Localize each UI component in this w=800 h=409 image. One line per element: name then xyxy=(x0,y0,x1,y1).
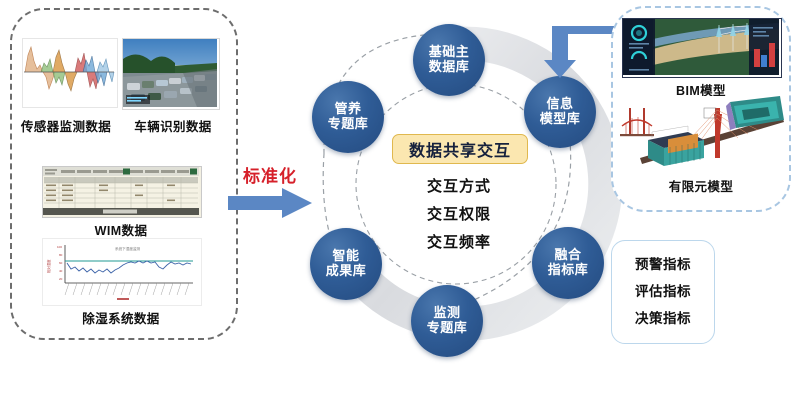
svg-text:40: 40 xyxy=(59,269,63,273)
node-line: 融合 xyxy=(554,248,581,263)
svg-text:相对湿度: 相对湿度 xyxy=(46,259,51,273)
ring-node-fusion-index-db[interactable]: 融合 指标库 xyxy=(532,227,604,299)
center-item-interaction-permission: 交互权限 xyxy=(392,203,526,224)
node-line: 成果库 xyxy=(326,264,367,279)
node-line: 信息 xyxy=(546,97,573,112)
center-item-list: 交互方式 交互权限 交互频率 xyxy=(392,168,526,259)
fem-diagram-thumbnail xyxy=(618,96,786,172)
indicator-item-warning: 预警指标 xyxy=(611,253,715,273)
node-line: 管养 xyxy=(334,102,361,117)
ring-node-smart-result-db[interactable]: 智能 成果库 xyxy=(310,228,382,300)
node-line: 基础主 xyxy=(429,45,470,60)
node-line: 智能 xyxy=(332,249,359,264)
diagram-canvas: 传感器监测数据 车辆识别数据 xyxy=(0,0,800,409)
caption-dehumidifier-data: 除湿系统数据 xyxy=(42,308,200,327)
indicator-item-list: 预警指标 评估指标 决策指标 xyxy=(611,246,715,334)
traffic-photo-thumbnail xyxy=(122,38,220,110)
bim-screenshot-thumbnail xyxy=(622,18,782,78)
center-badge: 数据共享交互 xyxy=(392,134,528,164)
waveform-chart-thumbnail xyxy=(22,38,118,108)
caption-fem-model: 有限元模型 xyxy=(611,176,791,195)
ring-node-info-model-db[interactable]: 信息 模型库 xyxy=(524,76,596,148)
svg-text:60: 60 xyxy=(59,261,63,265)
caption-sensor-data: 传感器监测数据 xyxy=(8,116,124,135)
svg-text:100: 100 xyxy=(57,245,62,249)
node-line: 指标库 xyxy=(548,263,589,278)
indicator-item-assessment: 评估指标 xyxy=(611,280,715,300)
dehumidifier-chart-thumbnail: 1008060 4020 相对湿度 系统下湿度监测 xyxy=(42,238,202,306)
node-line: 监测 xyxy=(433,306,460,321)
ring-node-base-master-db[interactable]: 基础主 数据库 xyxy=(413,24,485,96)
node-line: 数据库 xyxy=(429,60,470,75)
svg-text:系统下湿度监测: 系统下湿度监测 xyxy=(115,246,141,251)
node-line: 模型库 xyxy=(540,112,581,127)
ring-node-maintenance-topic-db[interactable]: 管养 专题库 xyxy=(312,81,384,153)
center-item-interaction-mode: 交互方式 xyxy=(392,175,526,196)
node-line: 专题库 xyxy=(328,117,369,132)
svg-text:80: 80 xyxy=(59,253,63,257)
caption-wim-data: WIM数据 xyxy=(42,220,200,239)
wim-table-thumbnail xyxy=(42,166,202,218)
indicator-item-decision: 决策指标 xyxy=(611,307,715,327)
caption-vehicle-data: 车辆识别数据 xyxy=(118,116,228,135)
svg-text:20: 20 xyxy=(59,277,63,281)
ring-node-monitor-topic-db[interactable]: 监测 专题库 xyxy=(411,285,483,357)
node-line: 专题库 xyxy=(427,321,468,336)
center-item-interaction-frequency: 交互频率 xyxy=(392,231,526,252)
